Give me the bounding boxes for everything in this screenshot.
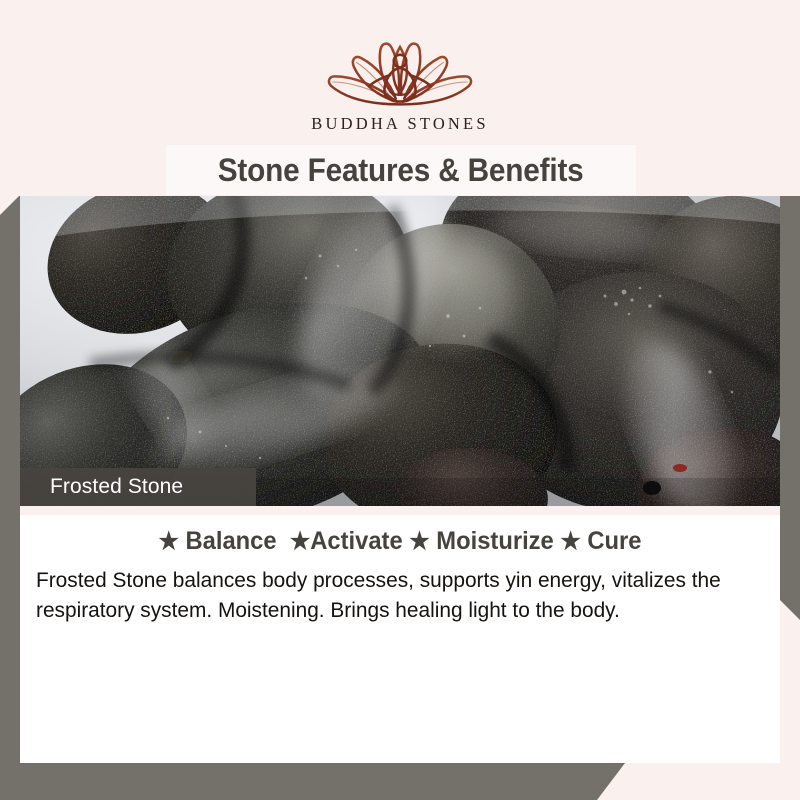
photo-seam: [20, 506, 780, 515]
lotus-meditation-icon: [316, 26, 484, 110]
benefit-item-moisturize: ★ Moisturize: [409, 527, 553, 555]
benefit-label-activate: Activate: [310, 527, 402, 555]
content-area: ★ Balance ★Activate ★ Moisturize ★ Cure …: [20, 515, 780, 763]
benefit-item-cure: ★ Cure: [560, 527, 641, 555]
photo-caption: Frosted Stone: [20, 475, 183, 499]
benefit-label-moisturize: Moisturize: [436, 527, 553, 555]
stone-description: Frosted Stone balances body processes, s…: [36, 565, 742, 625]
stone-photo-image: [20, 196, 780, 506]
benefit-item-activate: ★Activate: [290, 527, 403, 555]
benefits-row: ★ Balance ★Activate ★ Moisturize ★ Cure: [39, 527, 761, 556]
title-band: Stone Features & Benefits: [166, 145, 636, 195]
page-title: Stone Features & Benefits: [218, 152, 584, 189]
poster-header: BUDDHA STONES Stone Features & Benefits: [0, 0, 800, 196]
frame-accent-left: [0, 195, 20, 800]
stone-photo: Frosted Stone: [20, 196, 780, 506]
benefit-label-cure: Cure: [587, 527, 641, 555]
benefit-label-balance: Balance: [186, 527, 277, 555]
star-icon: ★: [158, 528, 178, 555]
star-icon: ★: [560, 528, 580, 555]
star-icon: ★: [409, 528, 429, 555]
brand-name: BUDDHA STONES: [0, 114, 800, 134]
benefit-item-balance: ★ Balance: [158, 527, 276, 555]
star-icon: ★: [290, 528, 310, 555]
description-line-1: Frosted Stone balances body processes, s…: [36, 565, 742, 595]
photo-caption-band: Frosted Stone: [20, 468, 256, 506]
brand-logo-block: BUDDHA STONES: [0, 26, 800, 134]
stone-benefits-poster: BUDDHA STONES Stone Features & Benefits: [0, 0, 800, 800]
frame-accent-bottom: [0, 763, 625, 800]
description-line-2: respiratory system. Moistening. Brings h…: [36, 595, 742, 625]
